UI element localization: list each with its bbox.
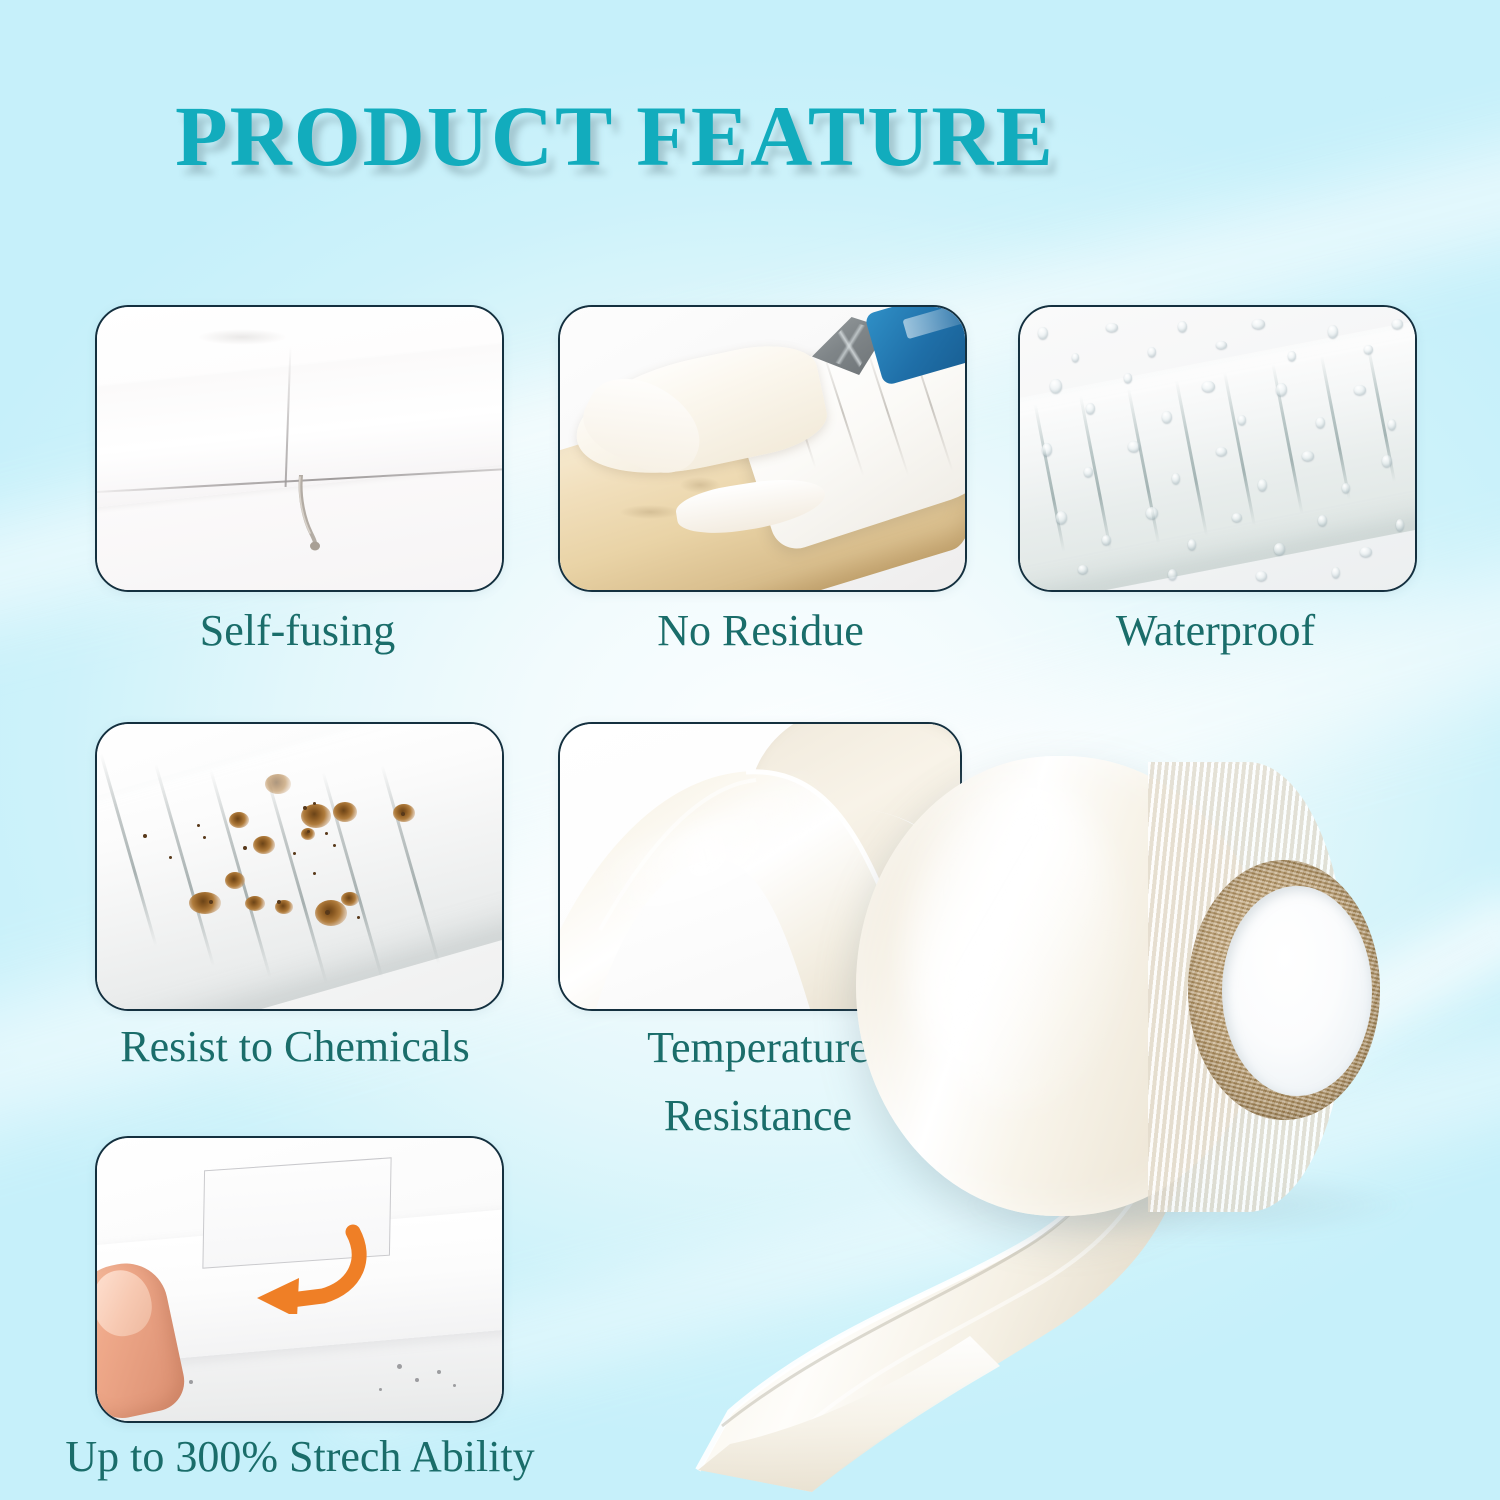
roll-highlight — [910, 778, 1120, 1108]
feature-card-self-fusing — [95, 305, 504, 592]
feature-label-stretch-ability: Up to 300% Strech Ability — [0, 1424, 600, 1489]
feature-image-stretch-ability — [97, 1138, 502, 1421]
feature-card-resist-to-chemicals — [95, 722, 504, 1011]
feature-label-resist-to-chemicals: Resist to Chemicals — [60, 1014, 530, 1079]
feature-image-no-residue — [560, 307, 965, 590]
stretch-direction-arrow-icon — [245, 1224, 375, 1314]
feature-label-waterproof: Waterproof — [1018, 598, 1413, 663]
feature-card-waterproof — [1018, 305, 1417, 592]
feature-card-no-residue — [558, 305, 967, 592]
infographic-canvas: PRODUCT FEATURE Self-fusing — [0, 0, 1500, 1500]
feature-label-self-fusing: Self-fusing — [95, 598, 500, 663]
page-title: PRODUCT FEATURE — [0, 86, 1230, 186]
feature-image-self-fusing — [97, 307, 502, 590]
feature-image-resist-to-chemicals — [97, 724, 502, 1009]
product-photo-silicone-tape-roll — [760, 700, 1500, 1500]
feature-image-waterproof — [1020, 307, 1415, 590]
roll-center-hole — [1222, 886, 1372, 1096]
feature-card-stretch-ability — [95, 1136, 504, 1423]
feature-label-no-residue: No Residue — [558, 598, 963, 663]
